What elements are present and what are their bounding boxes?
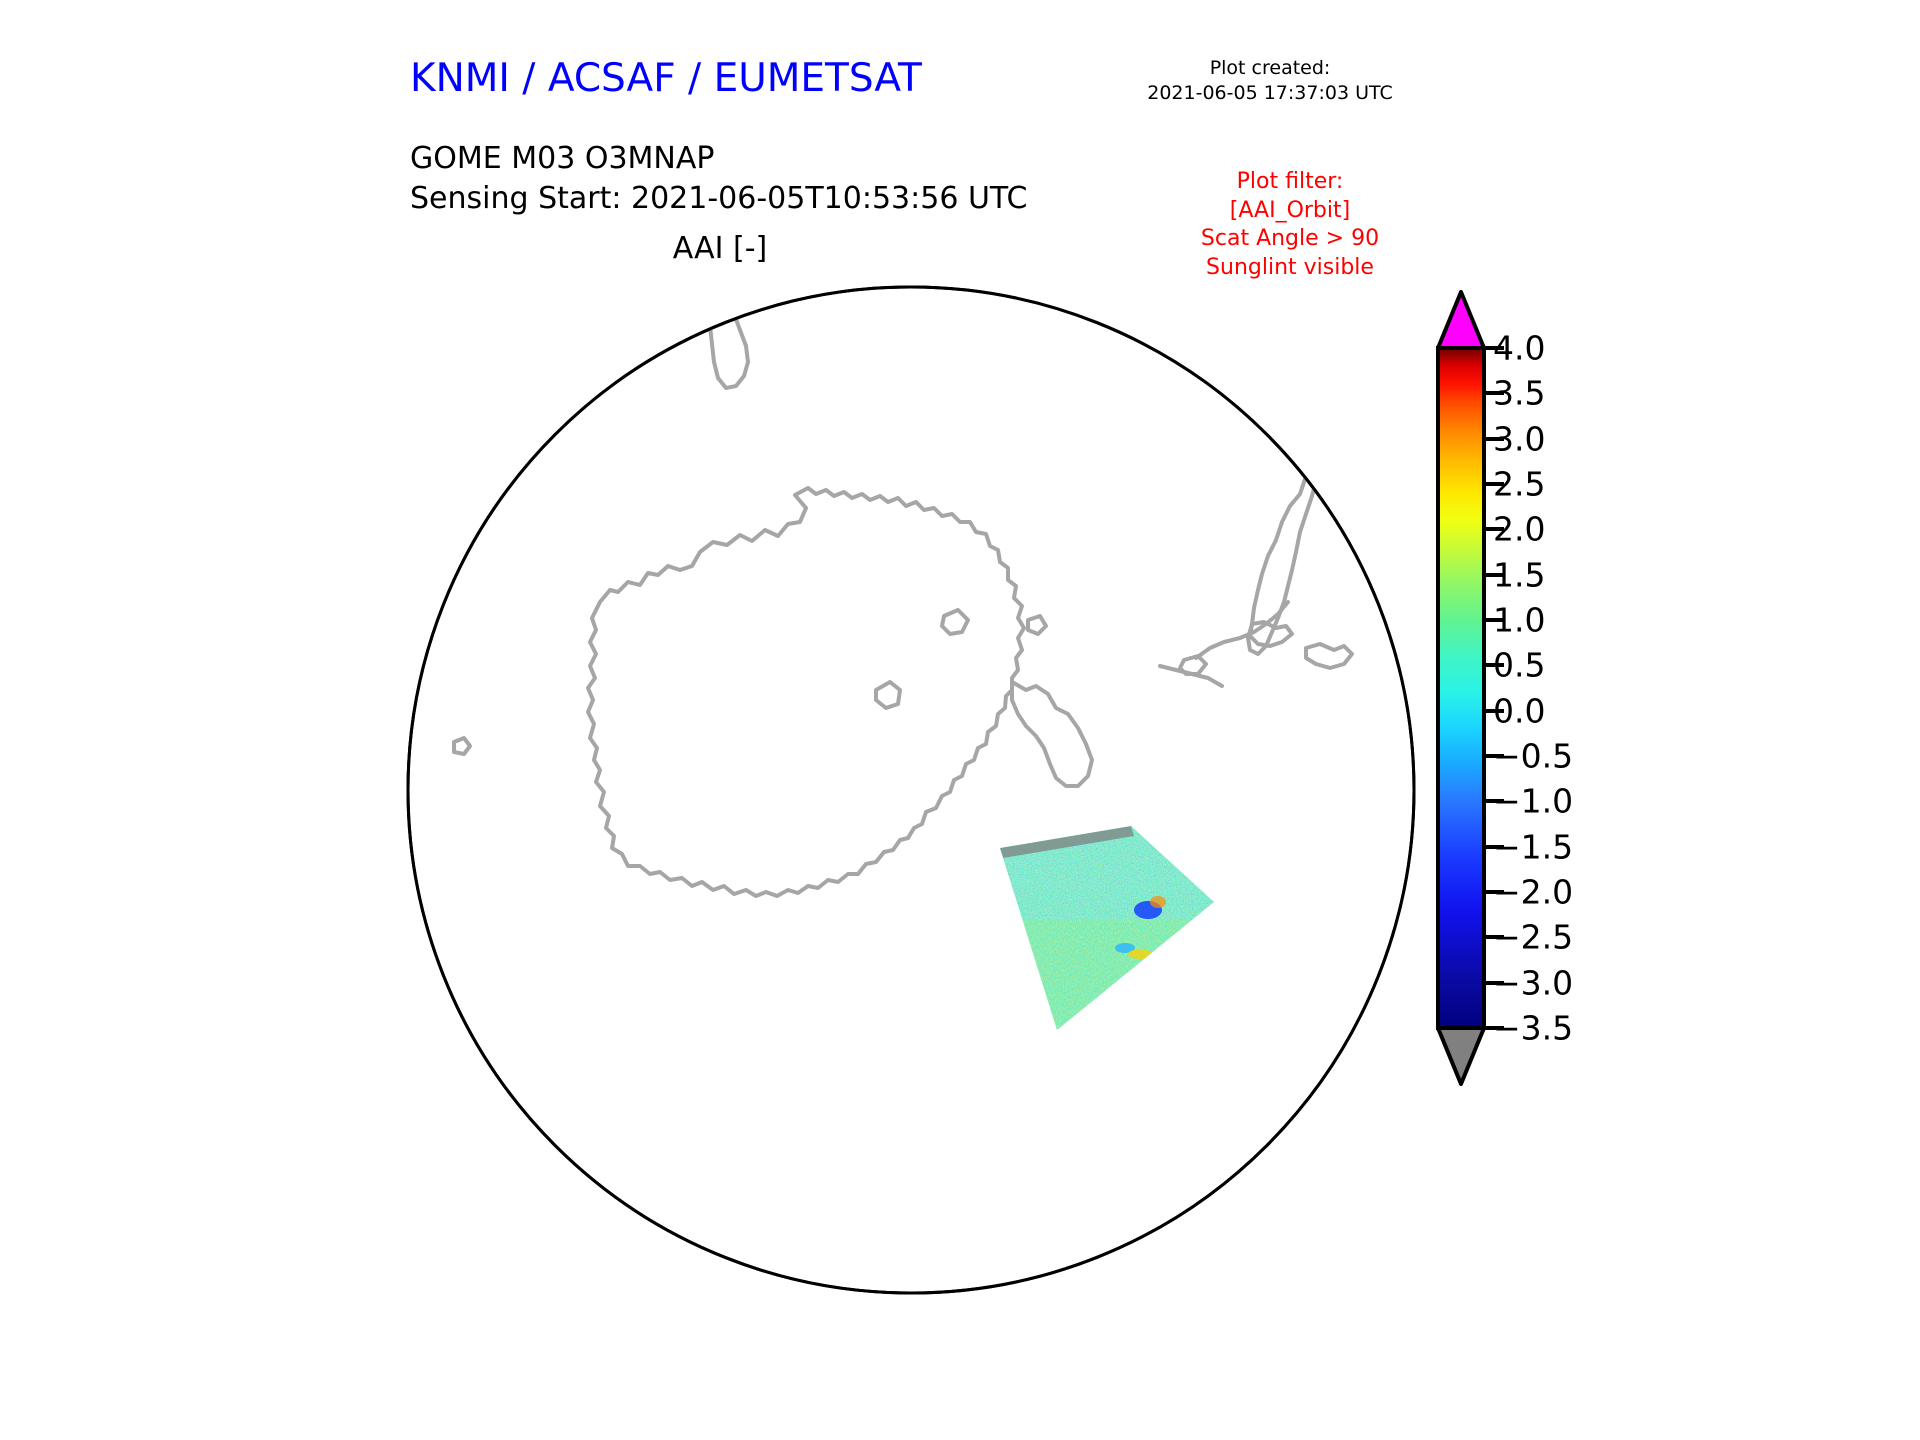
plot-page: KNMI / ACSAF / EUMETSAT Plot created: 20… — [0, 0, 1920, 1440]
colorbar-tick-label: −3.5 — [1493, 1009, 1573, 1048]
dataset-name: GOME M03 O3MNAP — [410, 139, 1027, 179]
colorbar-tick-label: 2.0 — [1493, 510, 1545, 549]
map-panel — [0, 230, 1430, 1410]
sensing-start: Sensing Start: 2021-06-05T10:53:56 UTC — [410, 179, 1027, 219]
colorbar-tick-label: −3.0 — [1493, 964, 1573, 1003]
colorbar-panel: 4.0 3.5 3.0 2.5 2.0 1.5 1.0 0.5 0.0 −0.5… — [1425, 280, 1725, 1100]
colorbar-tick-label: −0.5 — [1493, 737, 1573, 776]
colorbar-under-arrow — [1438, 1028, 1484, 1084]
polar-map — [0, 230, 1430, 1410]
colorbar-tick-label: 0.0 — [1493, 692, 1545, 731]
plot-filter-label: Plot filter: — [1140, 168, 1440, 197]
colorbar-tick-label: −2.5 — [1493, 918, 1573, 957]
globe-boundary-circle — [408, 287, 1414, 1293]
colorbar-tick-label: 3.5 — [1493, 374, 1545, 413]
colorbar-tick-label: −1.5 — [1493, 828, 1573, 867]
colorbar-tick-label: 2.5 — [1493, 465, 1545, 504]
colorbar-tick-label: 4.0 — [1493, 329, 1545, 368]
colorbar-tick-label: −2.0 — [1493, 873, 1573, 912]
plot-created-label: Plot created: — [1100, 56, 1440, 81]
colorbar-tick-label: 1.0 — [1493, 601, 1545, 640]
colorbar-tick-label: 3.0 — [1493, 420, 1545, 459]
plot-created-timestamp: 2021-06-05 17:37:03 UTC — [1100, 81, 1440, 106]
organisation-title: KNMI / ACSAF / EUMETSAT — [410, 56, 922, 101]
colorbar-tick-label: −1.0 — [1493, 782, 1573, 821]
plot-filter-product: [AAI_Orbit] — [1140, 197, 1440, 226]
coastline-island-upper-left — [520, 384, 566, 420]
plot-created-block: Plot created: 2021-06-05 17:37:03 UTC — [1100, 56, 1440, 106]
colorbar — [1425, 280, 1725, 1100]
dataset-info-block: GOME M03 O3MNAP Sensing Start: 2021-06-0… — [410, 139, 1027, 218]
colorbar-tick-label: 1.5 — [1493, 556, 1545, 595]
colorbar-over-arrow — [1438, 292, 1484, 348]
colorbar-tick-label: 0.5 — [1493, 646, 1545, 685]
swath-anomaly-blob — [1150, 896, 1166, 908]
colorbar-gradient — [1438, 348, 1484, 1028]
